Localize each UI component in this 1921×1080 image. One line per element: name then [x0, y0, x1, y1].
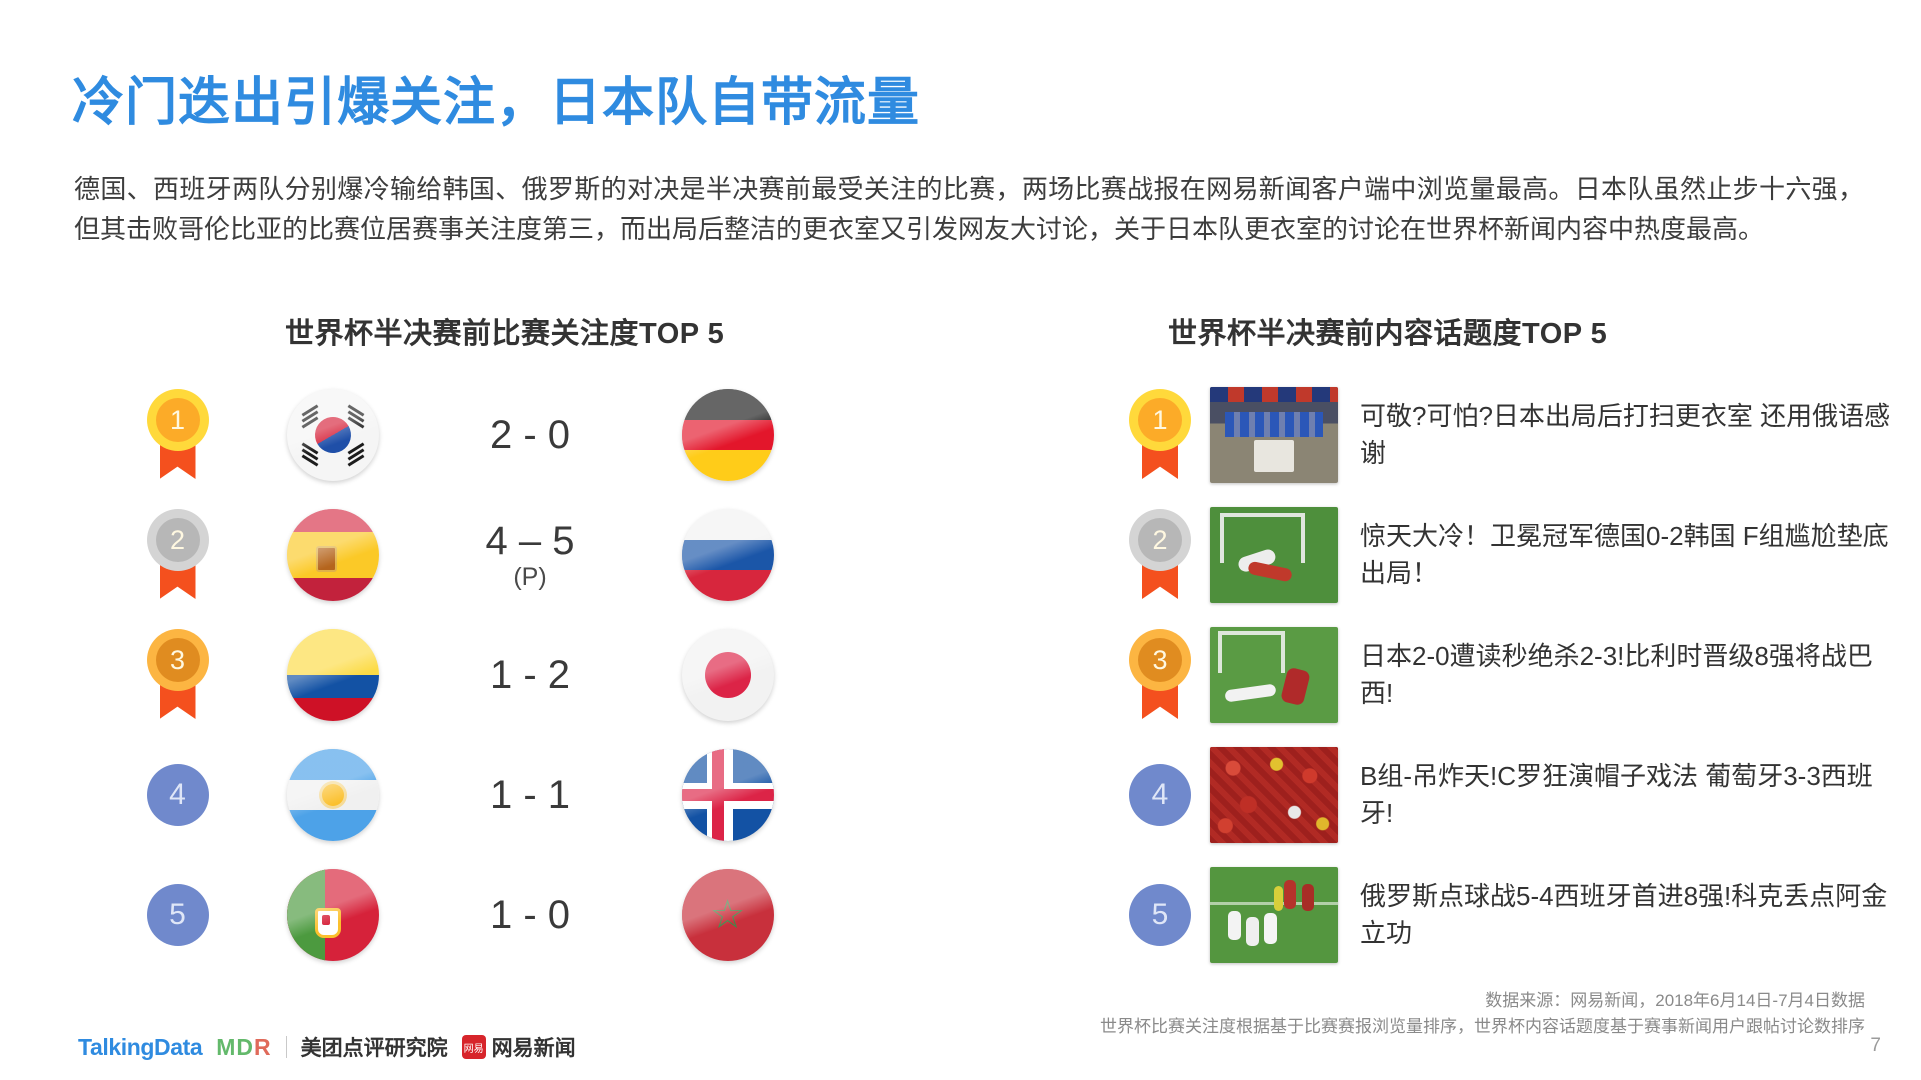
sun-of-may-shape	[322, 784, 344, 806]
news-thumbnail-japan-belgium	[1210, 627, 1338, 723]
home-flag-cell	[235, 509, 430, 601]
flag-band	[682, 540, 774, 571]
source-note: 数据来源：网易新闻，2018年6月14日-7月4日数据 世界杯比赛关注度根据基于…	[1100, 988, 1865, 1039]
thumb-crowd-texture	[1210, 747, 1338, 843]
page-number: 7	[1870, 1035, 1881, 1057]
medal-disc: 2	[1129, 509, 1191, 571]
thumb-player	[1280, 667, 1311, 706]
logo-divider	[286, 1036, 287, 1058]
home-flag-cell	[235, 629, 430, 721]
news-title[interactable]: 俄罗斯点球战5-4西班牙首进8强!科克丢点阿金立功	[1338, 878, 1900, 952]
rank-cell: 3	[1110, 629, 1210, 721]
rank-circle-badge: 4	[1129, 764, 1191, 826]
news-row[interactable]: 5 俄罗斯点球战5-4西班牙首进8强!科克丢点阿金立功	[1110, 855, 1900, 975]
score-cell: 2 - 0	[430, 414, 630, 456]
rank-cell: 5	[1110, 884, 1210, 946]
netease-news-label: 网易新闻	[492, 1032, 576, 1062]
flag-band	[682, 450, 774, 481]
rank-number: 5	[169, 898, 186, 932]
flag-band	[287, 810, 379, 841]
mdr-logo: MDR	[216, 1034, 271, 1061]
score-cell: 4 – 5 (P)	[430, 520, 630, 590]
thumb-player	[1228, 911, 1241, 940]
silver-medal-icon: 2	[1129, 509, 1191, 601]
news-thumbnail-spain-fans	[1210, 747, 1338, 843]
news-thumbnail-locker-room	[1210, 387, 1338, 483]
thumb-referee	[1274, 886, 1283, 911]
bronze-medal-icon: 3	[147, 629, 209, 721]
source-line-2: 世界杯比赛关注度根据基于比赛赛报浏览量排序，世界杯内容话题度基于赛事新闻用户跟帖…	[1100, 1014, 1865, 1040]
medal-disc: 2	[147, 509, 209, 571]
rank-cell: 3	[120, 629, 235, 721]
rank-circle-badge: 5	[1129, 884, 1191, 946]
match-row[interactable]: 3 1 - 2	[120, 615, 920, 735]
rank-number: 3	[1138, 638, 1182, 682]
rank-number: 2	[156, 518, 200, 562]
match-row[interactable]: 2 4 – 5 (P)	[120, 495, 920, 615]
away-flag-cell	[630, 389, 825, 481]
rank-cell: 4	[120, 764, 235, 826]
korea-flag-icon	[287, 389, 379, 481]
away-flag-cell: ☆	[630, 869, 825, 961]
score-note: (P)	[430, 564, 630, 590]
gold-medal-icon: 1	[1129, 389, 1191, 481]
score-value: 4 – 5	[486, 519, 575, 563]
shield-inner	[322, 915, 330, 925]
flag-band	[682, 420, 774, 451]
spain-flag-icon	[287, 509, 379, 601]
flag-band	[287, 749, 379, 780]
coat-of-arms-shape	[316, 546, 337, 572]
score-value: 1 - 2	[490, 653, 570, 697]
gold-medal-icon: 1	[147, 389, 209, 481]
thumb-table	[1254, 440, 1295, 473]
source-line-1: 数据来源：网易新闻，2018年6月14日-7月4日数据	[1100, 988, 1865, 1014]
left-section-heading: 世界杯半决赛前比赛关注度TOP 5	[285, 310, 724, 352]
news-title[interactable]: 可敬?可怕?日本出局后打扫更衣室 还用俄语感谢	[1338, 398, 1900, 472]
rank-cell: 5	[120, 884, 235, 946]
thumb-player	[1246, 917, 1259, 946]
portugal-shield-shape	[315, 908, 341, 938]
news-row[interactable]: 3 日本2-0遭读秒绝杀2-3!比利时晋级8强将战巴西!	[1110, 615, 1900, 735]
flag-band	[287, 698, 379, 721]
portugal-flag-icon	[287, 869, 379, 961]
news-topic-list: 1 可敬?可怕?日本出局后打扫更衣室 还用俄语感谢 2	[1110, 375, 1900, 975]
sun-disc-shape	[705, 652, 751, 698]
netease-news-logo: 网易 网易新闻	[462, 1032, 576, 1062]
news-row[interactable]: 2 惊天大冷！卫冕冠军德国0-2韩国 F组尴尬垫底出局！	[1110, 495, 1900, 615]
slide-root: 冷门迭出引爆关注，日本队自带流量 德国、西班牙两队分别爆冷输给韩国、俄罗斯的对决…	[0, 0, 1921, 1080]
flag-band	[287, 578, 379, 601]
rank-cell: 2	[120, 509, 235, 601]
news-row[interactable]: 4 B组-吊炸天!C罗狂演帽子戏法 葡萄牙3-3西班牙!	[1110, 735, 1900, 855]
thumb-seats	[1225, 412, 1322, 437]
news-row[interactable]: 1 可敬?可怕?日本出局后打扫更衣室 还用俄语感谢	[1110, 375, 1900, 495]
flag-band	[287, 675, 379, 698]
morocco-flag-icon: ☆	[682, 869, 774, 961]
rank-circle-badge: 4	[147, 764, 209, 826]
mdr-logo-r: R	[254, 1034, 272, 1060]
iceland-flag-icon	[682, 749, 774, 841]
news-title[interactable]: 惊天大冷！卫冕冠军德国0-2韩国 F组尴尬垫底出局！	[1338, 518, 1900, 592]
thumb-player	[1225, 683, 1277, 702]
rank-cell: 1	[120, 389, 235, 481]
thumb-goal-net	[1218, 631, 1285, 673]
thumb-player	[1302, 884, 1314, 911]
rank-number: 3	[156, 638, 200, 682]
flag-band	[682, 509, 774, 540]
colombia-flag-icon	[287, 629, 379, 721]
japan-flag-icon	[682, 629, 774, 721]
thumb-banner	[1210, 387, 1338, 402]
rank-number: 4	[169, 778, 186, 812]
medal-disc: 3	[1129, 629, 1191, 691]
meituan-research-logo: 美团点评研究院	[301, 1032, 448, 1062]
score-value: 1 - 0	[490, 893, 570, 937]
away-flag-cell	[630, 749, 825, 841]
bronze-medal-icon: 3	[1129, 629, 1191, 721]
rank-number: 1	[1138, 398, 1182, 442]
right-section-heading: 世界杯半决赛前内容话题度TOP 5	[1168, 310, 1607, 352]
thumb-player	[1284, 880, 1296, 909]
score-value: 1 - 1	[490, 773, 570, 817]
argentina-flag-icon	[287, 749, 379, 841]
news-thumbnail-russia-celebration	[1210, 867, 1338, 963]
germany-flag-icon	[682, 389, 774, 481]
page-title: 冷门迭出引爆关注，日本队自带流量	[72, 60, 920, 135]
rank-cell: 2	[1110, 509, 1210, 601]
flag-band	[682, 570, 774, 601]
flag-band	[682, 389, 774, 420]
rank-number: 2	[1138, 518, 1182, 562]
rank-number: 4	[1152, 778, 1169, 812]
match-attention-list: 1	[120, 375, 920, 975]
flag-band	[287, 629, 379, 675]
score-cell: 1 - 1	[430, 774, 630, 816]
silver-medal-icon: 2	[147, 509, 209, 601]
match-row[interactable]: 1	[120, 375, 920, 495]
news-title[interactable]: B组-吊炸天!C罗狂演帽子戏法 葡萄牙3-3西班牙!	[1338, 758, 1900, 832]
medal-disc: 1	[1129, 389, 1191, 451]
footer-logos: TalkingData MDR 美团点评研究院 网易 网易新闻	[78, 1032, 576, 1062]
score-value: 2 - 0	[490, 413, 570, 457]
thumb-player	[1264, 913, 1277, 944]
talkingdata-logo: TalkingData	[78, 1034, 202, 1061]
news-thumbnail-germany-korea	[1210, 507, 1338, 603]
medal-disc: 3	[147, 629, 209, 691]
match-row[interactable]: 4 1 - 1	[120, 735, 920, 855]
medal-disc: 1	[147, 389, 209, 451]
rank-cell: 1	[1110, 389, 1210, 481]
flag-band	[287, 509, 379, 532]
score-cell: 1 - 2	[430, 654, 630, 696]
rank-circle-badge: 5	[147, 884, 209, 946]
rank-number: 5	[1152, 898, 1169, 932]
rank-number: 1	[156, 398, 200, 442]
lede-paragraph: 德国、西班牙两队分别爆冷输给韩国、俄罗斯的对决是半决赛前最受关注的比赛，两场比赛…	[74, 170, 1864, 249]
home-flag-cell	[235, 389, 430, 481]
score-cell: 1 - 0	[430, 894, 630, 936]
flag-cross-red-horizontal	[682, 789, 774, 801]
rank-cell: 4	[1110, 764, 1210, 826]
home-flag-cell	[235, 869, 430, 961]
pentagram-star-shape: ☆	[708, 895, 748, 935]
netease-mark-icon: 网易	[462, 1035, 486, 1059]
home-flag-cell	[235, 749, 430, 841]
away-flag-cell	[630, 629, 825, 721]
match-row[interactable]: 5 1 - 0 ☆	[120, 855, 920, 975]
news-title[interactable]: 日本2-0遭读秒绝杀2-3!比利时晋级8强将战巴西!	[1338, 638, 1900, 712]
russia-flag-icon	[682, 509, 774, 601]
away-flag-cell	[630, 509, 825, 601]
